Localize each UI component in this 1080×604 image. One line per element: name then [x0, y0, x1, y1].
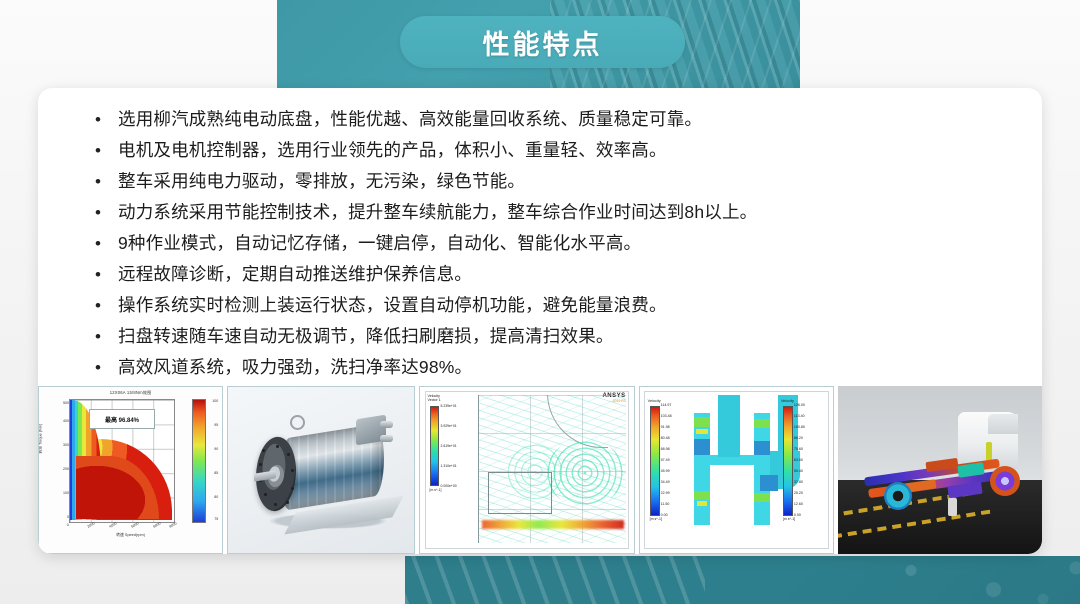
legend-unit: [m s^-1]: [783, 517, 795, 521]
legend-tick: 12.60: [794, 502, 803, 506]
legend-tick: 1.310e+01: [441, 464, 457, 468]
gallery-panel-ansys-cfd[interactable]: ANSYS 2019 R3 Velocity Vector 1 5.239e+0…: [419, 386, 635, 554]
ansys-velocity-legend: Velocity Vector 1 5.239e+01 3.929e+01 2.…: [428, 394, 476, 403]
gallery-panel-chassis-fea[interactable]: [838, 386, 1042, 554]
duct-hotspot: [694, 491, 710, 500]
legend-tick: 34.49: [661, 480, 670, 484]
legend-tick: 91.98: [661, 425, 670, 429]
legend-tick: 5.239e+01: [441, 404, 457, 408]
duct-hotspot: [754, 419, 770, 428]
duct-lowspot: [760, 475, 778, 491]
support-stand: [948, 498, 957, 516]
duct-legend-right: Velocity 126.00 113.40 100.80 88.20 75.6…: [781, 399, 827, 404]
footer-stripe-pattern: [405, 556, 705, 604]
list-item: • 整车采用纯电力驱动，零排放，无污染，绿色节能。: [78, 166, 1012, 197]
list-item-text: 动力系统采用节能控制技术，提升整车续航能力，整车综合作业时间达到8h以上。: [118, 197, 757, 228]
list-item: • 电机及电机控制器，选用行业领先的产品，体积小、重量轻、效率高。: [78, 135, 1012, 166]
duct-hotspot: [696, 429, 708, 434]
motor-terminal: [380, 421, 393, 428]
legend-tick: 114.97: [661, 403, 672, 407]
list-item-text: 整车采用纯电力驱动，零排放，无污染，绿色节能。: [118, 166, 525, 197]
legend-tick: 37.80: [794, 480, 803, 484]
efficiency-map-y-label: 转矩 Torque (Nm): [39, 424, 44, 454]
cbar-tick: 85: [214, 471, 218, 475]
legend-tick: 57.49: [661, 458, 670, 462]
legend-tick: 126.00: [794, 403, 805, 407]
bullet-marker-icon: •: [78, 259, 118, 290]
cbar-tick: 90: [214, 447, 218, 451]
bullet-marker-icon: •: [78, 104, 118, 135]
x-tick: 0: [66, 523, 70, 527]
legend-tick: 22.99: [661, 491, 670, 495]
duct-hotspot: [694, 417, 710, 427]
legend-unit: [m s^-1]: [430, 488, 442, 492]
legend-tick: 45.99: [661, 469, 670, 473]
legend-tick: 75.60: [794, 447, 803, 451]
legend-tick: 68.98: [661, 447, 670, 451]
duct-segment: [754, 413, 770, 525]
bullet-marker-icon: •: [78, 135, 118, 166]
list-item-text: 扫盘转速随车速自动无极调节，降低扫刷磨损，提高清扫效果。: [118, 321, 614, 352]
legend-tick: 80.48: [661, 436, 670, 440]
list-item: • 9种作业模式，自动记忆存储，一键启停，自动化、智能化水平高。: [78, 228, 1012, 259]
duct-riser: [718, 395, 740, 457]
motor-lifting-eye: [290, 415, 305, 430]
legend-tick: 88.20: [794, 436, 803, 440]
legend-colorbar: [430, 406, 439, 486]
legend-tick-values: 114.97 103.48 91.98 80.48 68.98 57.49 45…: [661, 403, 693, 519]
duct-lowspot: [694, 439, 710, 455]
bullet-marker-icon: •: [78, 197, 118, 228]
high-velocity-ground-jet: [482, 520, 624, 529]
cbar-tick: 75: [214, 517, 218, 521]
page-title: 性能特点: [483, 23, 603, 62]
efficiency-colorbar-ticks: 100 95 90 85 80 75: [206, 397, 218, 523]
list-item: • 选用柳汽成熟纯电动底盘，性能优越、高效能量回收系统、质量稳定可靠。: [78, 104, 1012, 135]
wheel-front: [990, 466, 1020, 496]
cbar-tick: 100: [212, 399, 218, 403]
footer-teal-band: [405, 556, 1080, 604]
legend-tick: 113.40: [794, 414, 805, 418]
list-item: • 高效风道系统，吸力强劲，洗扫净率达98%。: [78, 352, 1012, 383]
motor-render-image: [228, 387, 413, 553]
efficiency-map-x-label: 转速 Speed(rpm): [39, 533, 222, 538]
duct-contour-figure: Velocity 114.97 103.48 91.98 80.48 68.98…: [640, 387, 833, 553]
legend-tick-values: 5.239e+01 3.929e+01 2.619e+01 1.310e+01 …: [441, 404, 475, 488]
page-title-pill: 性能特点: [400, 16, 685, 68]
legend-tick: 50.40: [794, 469, 803, 473]
legend-subtitle: Vector 1: [428, 398, 476, 402]
bullet-marker-icon: •: [78, 166, 118, 197]
legend-tick: 63.00: [794, 458, 803, 462]
chassis-fea-image: [838, 386, 1042, 554]
gallery-panel-motor[interactable]: [227, 386, 414, 554]
duct-velocity-contour-art: [694, 395, 781, 547]
ansys-plot-area: [478, 395, 626, 543]
legend-colorbar: [650, 406, 660, 516]
legend-unit: [m s^-1]: [650, 517, 662, 521]
efficiency-map-title: 12X06A 15/8Nm效图: [39, 390, 222, 396]
motor-terminal: [380, 435, 393, 442]
list-item-text: 远程故障诊断，定期自动推送维护保养信息。: [118, 259, 472, 290]
list-item: • 操作系统实时检测上装运行状态，设置自动停机功能，避免能量浪费。: [78, 290, 1012, 321]
cbar-tick: 80: [214, 495, 218, 499]
efficiency-colorbar: [192, 399, 206, 523]
list-item: • 扫盘转速随车速自动无极调节，降低扫刷磨损，提高清扫效果。: [78, 321, 1012, 352]
efficiency-map-figure: 12X06A 15/8Nm效图 0 100 200 300 400 500: [39, 387, 222, 553]
wheel-rear: [884, 482, 912, 510]
vortex-primary: [546, 439, 624, 507]
list-item: • 动力系统采用节能控制技术，提升整车续航能力，整车综合作业时间达到8h以上。: [78, 197, 1012, 228]
list-item: • 远程故障诊断，定期自动推送维护保养信息。: [78, 259, 1012, 290]
legend-tick: 0.000e+00: [441, 484, 457, 488]
bullet-marker-icon: •: [78, 290, 118, 321]
legend-colorbar: [783, 406, 793, 516]
legend-tick: 103.48: [661, 414, 672, 418]
list-item-text: 选用柳汽成熟纯电动底盘，性能优越、高效能量回收系统、质量稳定可靠。: [118, 104, 702, 135]
gallery-panel-duct-contour[interactable]: Velocity 114.97 103.48 91.98 80.48 68.98…: [639, 386, 834, 554]
image-gallery: 12X06A 15/8Nm效图 0 100 200 300 400 500: [38, 386, 1042, 554]
duct-hotspot: [697, 501, 707, 506]
duct-lowspot: [754, 441, 770, 455]
duct-legend-left: Velocity 114.97 103.48 91.98 80.48 68.98…: [648, 399, 694, 404]
efficiency-map-y-ticks: 0 100 200 300 400 500: [53, 397, 69, 523]
legend-tick: 3.929e+01: [441, 424, 457, 428]
bullet-marker-icon: •: [78, 352, 118, 383]
legend-tick-values: 126.00 113.40 100.80 88.20 75.60 63.00 5…: [794, 403, 826, 519]
list-item-text: 电机及电机控制器，选用行业领先的产品，体积小、重量轻、效率高。: [118, 135, 667, 166]
content-card: • 选用柳汽成熟纯电动底盘，性能优越、高效能量回收系统、质量稳定可靠。 • 电机…: [38, 88, 1042, 554]
list-item-text: 操作系统实时检测上装运行状态，设置自动停机功能，避免能量浪费。: [118, 290, 667, 321]
gallery-panel-efficiency-map[interactable]: 12X06A 15/8Nm效图 0 100 200 300 400 500: [38, 386, 223, 554]
bullet-list: • 选用柳汽成熟纯电动底盘，性能优越、高效能量回收系统、质量稳定可靠。 • 电机…: [78, 104, 1012, 383]
legend-tick: 2.619e+01: [441, 444, 457, 448]
legend-tick: 25.20: [794, 491, 803, 495]
legend-tick: 11.50: [661, 502, 670, 506]
footer-bubble-pattern: [845, 556, 1080, 604]
ansys-cfd-figure: ANSYS 2019 R3 Velocity Vector 1 5.239e+0…: [420, 387, 634, 553]
legend-tick: 100.80: [794, 425, 805, 429]
list-item-text: 9种作业模式，自动记忆存储，一键启停，自动化、智能化水平高。: [118, 228, 641, 259]
obstacle-outline: [488, 472, 552, 514]
cbar-tick: 95: [214, 423, 218, 427]
slide-root: 性能特点 • 选用柳汽成熟纯电动底盘，性能优越、高效能量回收系统、质量稳定可靠。…: [0, 0, 1080, 604]
list-item-text: 高效风道系统，吸力强劲，洗扫净率达98%。: [118, 352, 472, 383]
truck-cab-window: [988, 414, 1018, 434]
bullet-marker-icon: •: [78, 228, 118, 259]
efficiency-peak-annotation: 最高 96.84%: [89, 409, 155, 429]
duct-hotspot: [754, 493, 770, 502]
bullet-marker-icon: •: [78, 321, 118, 352]
